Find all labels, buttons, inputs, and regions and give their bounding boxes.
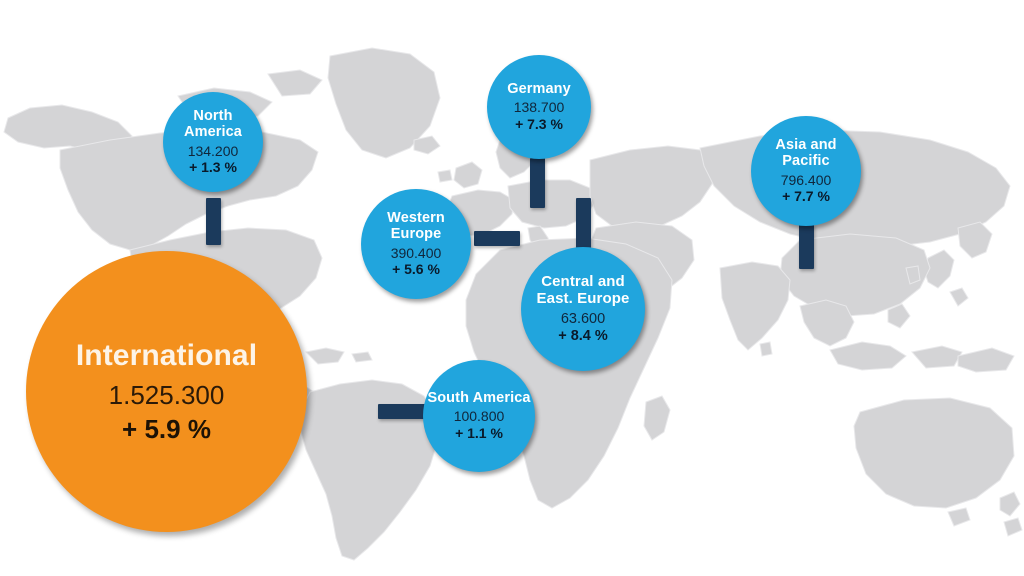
bubble-delta-germany: + 7.3 % (515, 117, 563, 133)
bubble-delta-international: + 5.9 % (122, 415, 211, 444)
bubble-international[interactable]: International 1.525.300 + 5.9 % (26, 251, 307, 532)
bubble-value-germany: 138.700 (514, 100, 565, 116)
connector-south-america (378, 404, 426, 419)
bubble-label-germany: Germany (507, 81, 571, 97)
connector-germany (530, 158, 545, 208)
bubble-value-western-europe: 390.400 (391, 246, 442, 262)
bubble-value-international: 1.525.300 (109, 381, 225, 410)
infographic-canvas: North America 134.200 + 1.3 % Germany 13… (0, 0, 1024, 576)
bubble-delta-asia-pacific: + 7.7 % (782, 189, 830, 205)
bubble-label-south-america: South America (427, 390, 530, 406)
bubble-germany[interactable]: Germany 138.700 + 7.3 % (487, 55, 591, 159)
bubble-asia-pacific[interactable]: Asia and Pacific 796.400 + 7.7 % (751, 116, 861, 226)
bubble-value-south-america: 100.800 (454, 409, 505, 425)
bubble-value-asia-pacific: 796.400 (781, 173, 832, 189)
bubble-label-north-america: North America (163, 108, 263, 140)
bubble-value-north-america: 134.200 (188, 144, 239, 160)
bubble-label-international: International (76, 339, 257, 373)
bubble-label-central-east-europe: Central and East. Europe (527, 274, 639, 308)
bubble-value-central-east-europe: 63.600 (561, 311, 605, 327)
bubble-delta-central-east-europe: + 8.4 % (558, 328, 608, 344)
bubble-delta-western-europe: + 5.6 % (392, 262, 440, 278)
bubble-north-america[interactable]: North America 134.200 + 1.3 % (163, 92, 263, 192)
bubble-central-east-europe[interactable]: Central and East. Europe 63.600 + 8.4 % (521, 247, 645, 371)
connector-north-america (206, 198, 221, 245)
bubble-label-western-europe: Western Europe (361, 210, 471, 242)
connector-asia-pacific (799, 224, 814, 269)
connector-central-east-europe (576, 198, 591, 248)
bubble-south-america[interactable]: South America 100.800 + 1.1 % (423, 360, 535, 472)
bubble-delta-south-america: + 1.1 % (455, 426, 503, 442)
bubble-label-asia-pacific: Asia and Pacific (751, 137, 861, 169)
bubble-western-europe[interactable]: Western Europe 390.400 + 5.6 % (361, 189, 471, 299)
bubble-delta-north-america: + 1.3 % (189, 160, 237, 176)
connector-western-europe (474, 231, 520, 246)
